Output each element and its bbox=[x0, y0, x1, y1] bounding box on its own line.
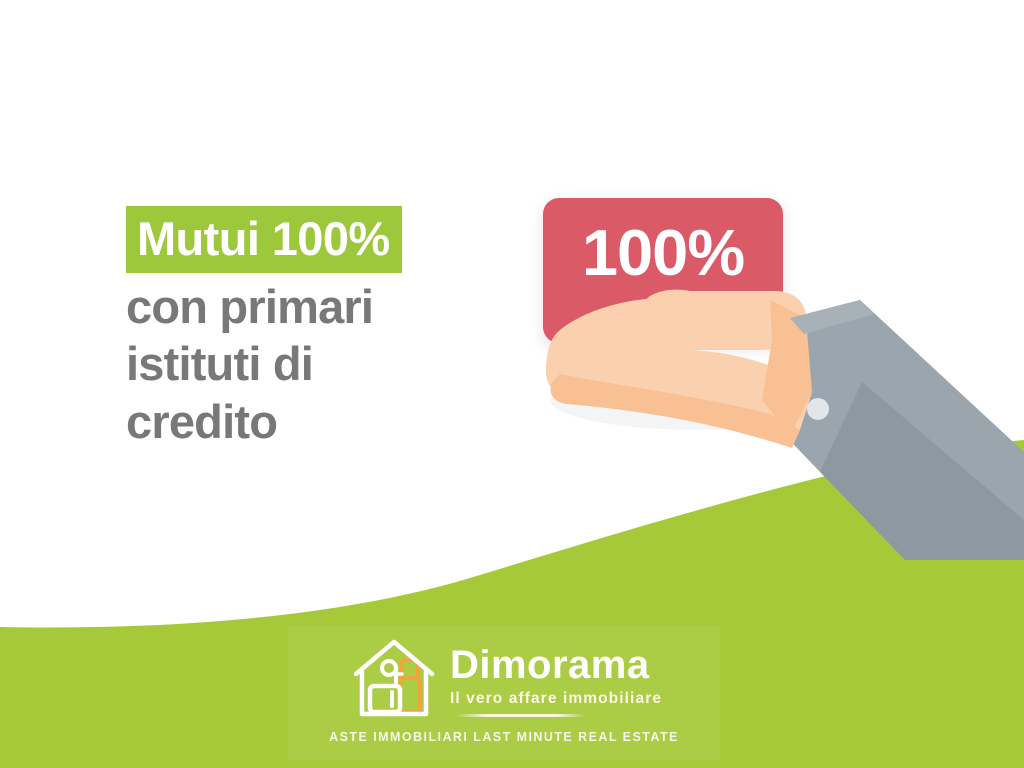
headline-highlight-wrap: Mutui 100% bbox=[126, 206, 546, 273]
percent-card-body: 100% bbox=[543, 198, 783, 343]
logo-name: Dimorama bbox=[450, 645, 650, 685]
headline-highlight: Mutui 100% bbox=[126, 206, 402, 273]
headline-line-3: credito bbox=[126, 394, 546, 449]
brand-logo: Dimorama Il vero affare immobiliare ASTE… bbox=[288, 626, 720, 760]
logo-wordmark: Dimorama Il vero affare immobiliare bbox=[450, 639, 662, 717]
percent-card: 100% bbox=[543, 198, 783, 343]
percent-card-label: 100% bbox=[582, 220, 744, 285]
logo-footer-text: ASTE IMMOBILIARI LAST MINUTE REAL ESTATE bbox=[329, 731, 679, 744]
headline-line-1: con primari bbox=[126, 279, 546, 334]
logo-underline-rule bbox=[456, 714, 586, 717]
house-with-key-and-document-icon bbox=[346, 634, 442, 722]
promo-poster: Mutui 100% con primari istituti di credi… bbox=[0, 0, 1024, 768]
logo-row: Dimorama Il vero affare immobiliare bbox=[346, 634, 662, 722]
headline-line-2: istituti di bbox=[126, 336, 546, 391]
headline-block: Mutui 100% con primari istituti di credi… bbox=[126, 206, 546, 449]
logo-tagline: Il vero affare immobiliare bbox=[450, 691, 662, 707]
